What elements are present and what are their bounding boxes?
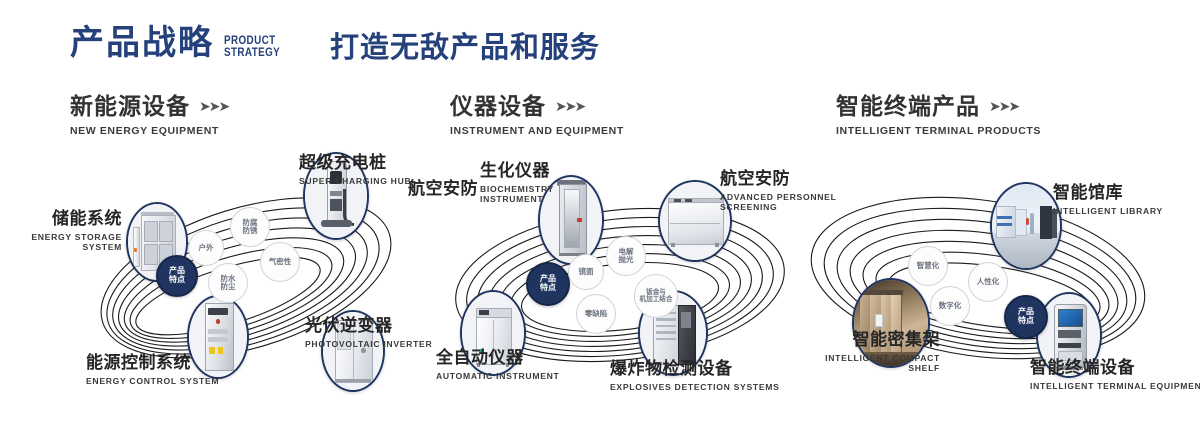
feature-label: 智慧化: [917, 262, 940, 270]
label-en: SUPER CHARGING HUB: [299, 177, 411, 187]
feature-label: 数字化: [939, 302, 962, 310]
label-en-line2: INSTRUMENT: [480, 195, 554, 205]
label-en: AUTOMATIC INSTRUMENT: [436, 372, 559, 382]
feature-label-line2: 抛光: [619, 256, 634, 264]
core-badge-line2: 特点: [1018, 317, 1034, 326]
cluster-new-energy: 产品特点 户外 防腐防锈 防水防尘 气密性 储能系统 ENERGY STORAG…: [50, 150, 440, 422]
section-title-en-instrument: INSTRUMENT AND EQUIPMENT: [450, 125, 624, 137]
feature-bubble-electropolish[interactable]: 电解抛光: [606, 236, 646, 276]
label-intelligent-compact-shelf: 智能密集架 INTELLIGENT COMPACT SHELF: [770, 331, 940, 374]
feature-label: 人性化: [977, 278, 1000, 286]
label-automatic-instrument: 全自动仪器 AUTOMATIC INSTRUMENT: [436, 349, 559, 381]
label-intelligent-library: 智能馆库 INTELLIGENT LIBRARY: [1053, 184, 1163, 216]
title-en-line2: STRATEGY: [224, 46, 280, 58]
label-en-line2: SYSTEM: [0, 243, 122, 253]
core-badge-line2: 特点: [169, 276, 185, 285]
label-cn: 全自动仪器: [436, 349, 559, 369]
label-cn: 智能馆库: [1053, 184, 1163, 204]
label-en-line1: ENERGY STORAGE: [0, 233, 122, 243]
section-title-cn-new-energy: 新能源设备 ➤➤➤: [70, 95, 228, 120]
label-photovoltaic-inverter: 光伏逆变器 PHOTOVOLTAIC INVERTER: [305, 317, 432, 349]
label-intelligent-terminal-equipment: 智能终端设备 INTELLIGENT TERMINAL EQUIPMENT: [1030, 359, 1200, 391]
feature-bubble-airtight[interactable]: 气密性: [260, 242, 300, 282]
label-en: EXPLOSIVES DETECTION SYSTEMS: [610, 383, 780, 393]
label-en: ENERGY CONTROL SYSTEM: [86, 377, 219, 387]
feature-bubble-anticorrosion[interactable]: 防腐防锈: [230, 207, 270, 247]
label-explosives-detection: 爆炸物检测设备 EXPLOSIVES DETECTION SYSTEMS: [610, 360, 780, 392]
core-badge-product-features-3[interactable]: 产品特点: [1004, 295, 1048, 339]
feature-bubble-outdoor[interactable]: 户外: [188, 230, 224, 266]
label-cn: 能源控制系统: [86, 354, 219, 374]
section-header-new-energy: 新能源设备 ➤➤➤ NEW ENERGY EQUIPMENT: [70, 95, 228, 137]
chevron-right-icon: ➤➤➤: [555, 100, 584, 115]
cluster-instrument: 产品特点 镜面 电解抛光 零缺陷 钣金与机加工结合 航空安防 生化仪器 BIOC…: [420, 150, 820, 422]
label-cn: 爆炸物检测设备: [610, 360, 780, 380]
section-title-cn-intelligent-terminal: 智能终端产品 ➤➤➤: [836, 95, 1041, 120]
section-header-intelligent-terminal: 智能终端产品 ➤➤➤ INTELLIGENT TERMINAL PRODUCTS: [836, 95, 1041, 137]
feature-bubble-mirror[interactable]: 镜面: [568, 254, 604, 290]
section-title-text: 新能源设备: [70, 95, 190, 120]
feature-bubble-smart[interactable]: 智慧化: [908, 246, 948, 286]
feature-bubble-waterproof[interactable]: 防水防尘: [208, 263, 248, 303]
cluster-intelligent-terminal: 产品特点 智慧化 数字化 人性化 智能馆库 INTELLIGENT LIBRAR…: [800, 150, 1200, 422]
feature-bubble-digital[interactable]: 数字化: [930, 286, 970, 326]
feature-label: 镜面: [579, 268, 594, 276]
core-badge-product-features-1[interactable]: 产品特点: [156, 255, 198, 297]
product-strategy-infographic: 产品战略 PRODUCT STRATEGY 打造无敌产品和服务 新能源设备 ➤➤…: [0, 0, 1200, 422]
label-aviation-security-left: 航空安防: [408, 180, 478, 200]
feature-label: 零缺陷: [585, 310, 608, 318]
label-en-line2: SHELF: [770, 364, 940, 374]
label-en-line1: INTELLIGENT COMPACT: [770, 354, 940, 364]
feature-bubble-sheetmetal-machining[interactable]: 钣金与机加工结合: [634, 274, 678, 318]
page-title: 产品战略 PRODUCT STRATEGY: [70, 26, 292, 60]
title-cn: 产品战略: [70, 26, 214, 60]
label-biochemistry-instrument: 生化仪器 BIOCHEMISTRY INSTRUMENT: [480, 162, 554, 205]
section-title-text: 仪器设备: [450, 95, 546, 120]
core-badge-line2: 特点: [540, 284, 556, 293]
label-cn: 航空安防: [408, 180, 478, 200]
product-node-intelligent-library[interactable]: [990, 182, 1062, 270]
label-en: INTELLIGENT LIBRARY: [1053, 207, 1163, 217]
label-en: PHOTOVOLTAIC INVERTER: [305, 340, 432, 350]
label-cn: 光伏逆变器: [305, 317, 432, 337]
label-energy-control-system: 能源控制系统 ENERGY CONTROL SYSTEM: [86, 354, 219, 386]
label-super-charging-hub: 超级充电桩 SUPER CHARGING HUB: [299, 154, 411, 186]
chevron-right-icon: ➤➤➤: [199, 100, 228, 115]
label-en-line1: BIOCHEMISTRY: [480, 185, 554, 195]
feature-bubble-zero-defect[interactable]: 零缺陷: [576, 294, 616, 334]
chevron-right-icon: ➤➤➤: [989, 100, 1018, 115]
feature-label-line2: 防尘: [221, 283, 236, 291]
core-badge-product-features-2[interactable]: 产品特点: [526, 262, 570, 306]
label-energy-storage: 储能系统 ENERGY STORAGE SYSTEM: [0, 210, 122, 253]
library-room-artwork: [992, 184, 1060, 268]
feature-label: 气密性: [269, 258, 292, 266]
label-cn: 智能终端设备: [1030, 359, 1200, 379]
section-title-en-intelligent-terminal: INTELLIGENT TERMINAL PRODUCTS: [836, 125, 1041, 137]
page-subtitle: 打造无敌产品和服务: [330, 30, 600, 65]
label-en: INTELLIGENT TERMINAL EQUIPMENT: [1030, 382, 1200, 392]
title-en: PRODUCT STRATEGY: [224, 34, 280, 58]
feature-label: 户外: [199, 244, 214, 252]
feature-bubble-humanized[interactable]: 人性化: [968, 262, 1008, 302]
section-title-cn-instrument: 仪器设备 ➤➤➤: [450, 95, 624, 120]
feature-label-line2: 机加工结合: [640, 296, 673, 303]
label-cn: 超级充电桩: [299, 154, 411, 174]
label-cn: 生化仪器: [480, 162, 554, 182]
label-cn: 智能密集架: [770, 331, 940, 351]
section-title-en-new-energy: NEW ENERGY EQUIPMENT: [70, 125, 228, 137]
feature-label-line2: 防锈: [243, 227, 258, 235]
section-header-instrument: 仪器设备 ➤➤➤ INSTRUMENT AND EQUIPMENT: [450, 95, 624, 137]
section-title-text: 智能终端产品: [836, 95, 980, 120]
label-cn: 储能系统: [0, 210, 122, 230]
